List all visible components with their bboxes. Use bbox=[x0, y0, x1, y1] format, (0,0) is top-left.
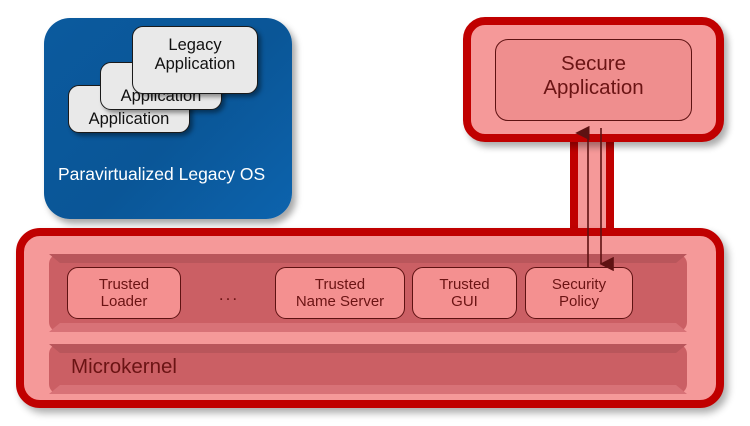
secure-application-label-line1: Secure bbox=[496, 52, 691, 76]
service-label-trusted-loader-line1: Trusted bbox=[68, 276, 180, 293]
service-label-security-policy-line2: Policy bbox=[526, 293, 632, 310]
legacy-application-label-3-line2: Application bbox=[133, 55, 257, 74]
service-box-trusted-gui: Trusted GUI bbox=[412, 267, 517, 319]
legacy-application-box-3: Legacy Application bbox=[132, 26, 258, 94]
architecture-diagram: Paravirtualized Legacy OS Legacy Applica… bbox=[0, 0, 750, 426]
legacy-application-label-3-line1: Legacy bbox=[133, 36, 257, 55]
service-box-trusted-name-server: Trusted Name Server bbox=[275, 267, 405, 319]
microkernel-label: Microkernel bbox=[71, 355, 177, 379]
legacy-application-label-1-line2: Application bbox=[69, 110, 189, 129]
service-label-trusted-gui-line2: GUI bbox=[413, 293, 516, 310]
paravirtualized-legacy-os-label: Paravirtualized Legacy OS bbox=[58, 164, 282, 185]
services-ellipsis: ... bbox=[201, 285, 257, 305]
service-label-trusted-loader-line2: Loader bbox=[68, 293, 180, 310]
service-label-trusted-name-server-line2: Name Server bbox=[276, 293, 404, 310]
service-box-trusted-loader: Trusted Loader bbox=[67, 267, 181, 319]
secure-application-box: Secure Application bbox=[495, 39, 692, 121]
service-label-trusted-name-server-line1: Trusted bbox=[276, 276, 404, 293]
trusted-domain-stem bbox=[570, 126, 614, 242]
service-label-trusted-gui-line1: Trusted bbox=[413, 276, 516, 293]
trusted-services-row: Trusted Loader ... Trusted Name Server T… bbox=[49, 254, 687, 332]
service-label-security-policy-line1: Security bbox=[526, 276, 632, 293]
trusted-computing-base-container: Trusted Loader ... Trusted Name Server T… bbox=[16, 228, 724, 408]
service-box-security-policy: Security Policy bbox=[525, 267, 633, 319]
secure-application-label-line2: Application bbox=[496, 76, 691, 100]
secure-application-frame: Secure Application bbox=[463, 17, 724, 142]
